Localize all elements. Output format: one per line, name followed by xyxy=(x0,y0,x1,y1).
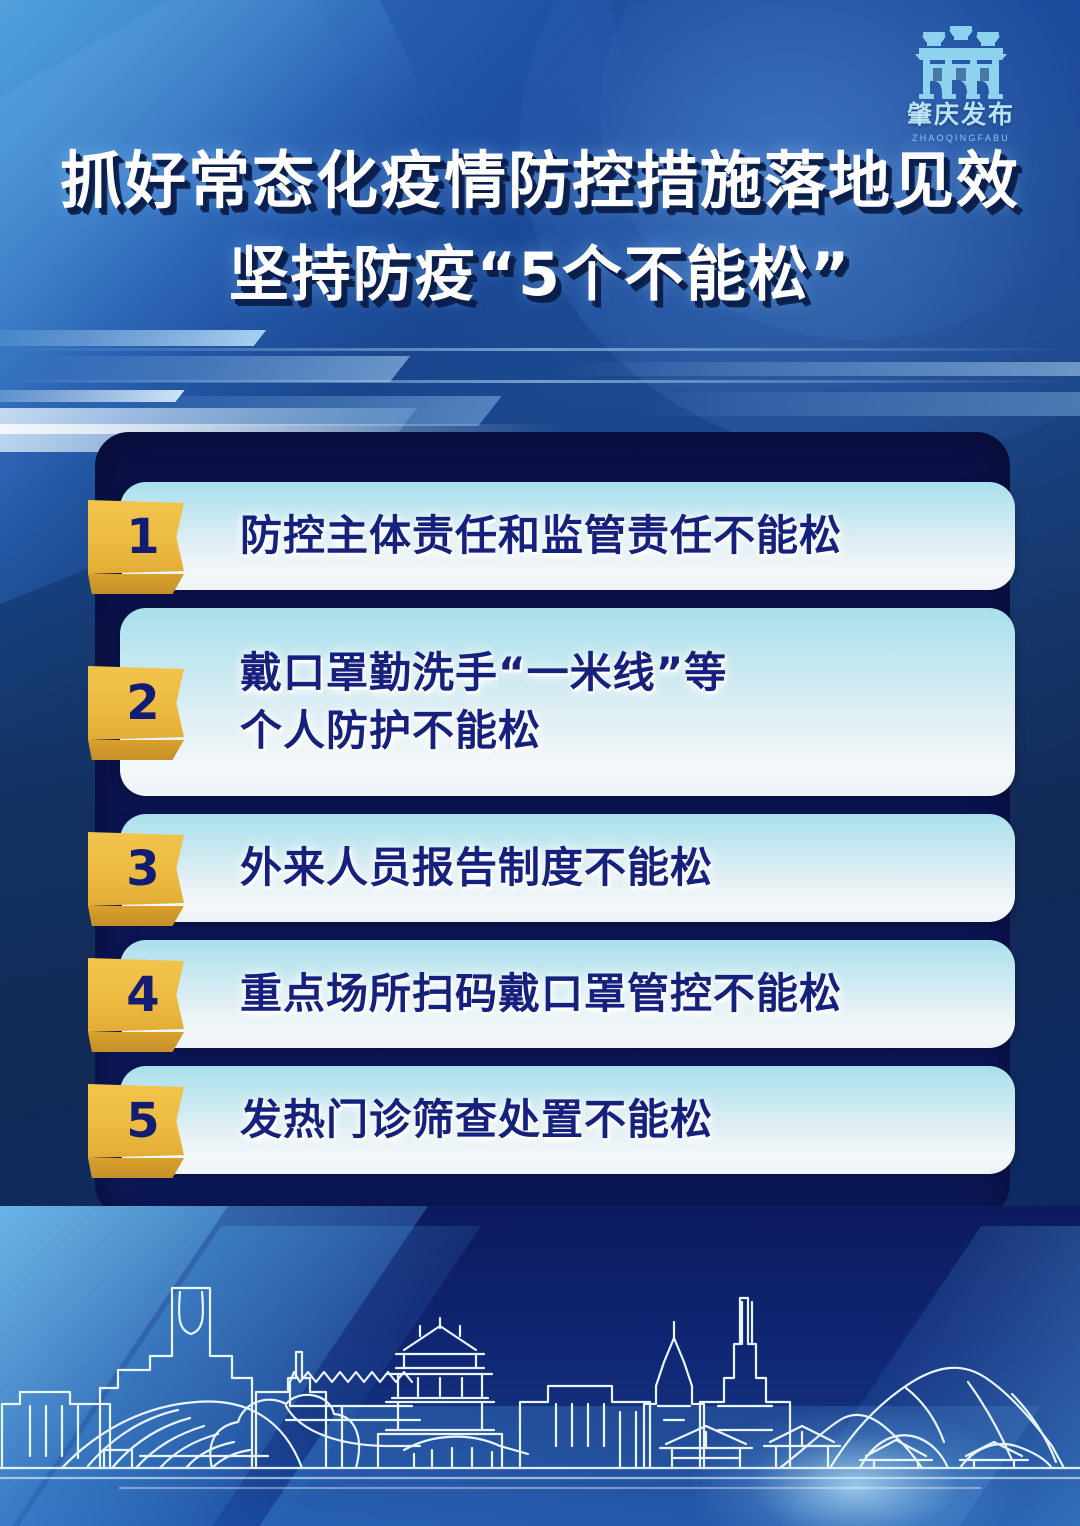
bg-horizontal-band xyxy=(0,348,1080,351)
bg-light-streak xyxy=(0,390,185,402)
item-text-line-1: 外来人员报告制度不能松 xyxy=(240,843,713,892)
item-text-line-2: 个人防护不能松 xyxy=(240,702,727,760)
item-text-line-1: 防控主体责任和监管责任不能松 xyxy=(240,511,842,560)
headline-block: 抓好常态化疫情防控措施落地见效 坚持防疫“5个不能松” xyxy=(0,140,1080,315)
item-badge-fold xyxy=(88,740,184,760)
item-text-line-1: 发热门诊筛查处置不能松 xyxy=(240,1095,713,1144)
item-text-line-1: 戴口罩勤洗手“一米线”等 xyxy=(240,644,727,702)
item-text: 外来人员报告制度不能松 xyxy=(240,839,737,897)
item-badge-fold xyxy=(88,1032,184,1052)
item-text-line-1: 重点场所扫码戴口罩管控不能松 xyxy=(240,969,842,1018)
city-skyline-footer xyxy=(0,1206,1080,1526)
item-number-badge: 1 xyxy=(88,500,184,574)
item-badge-fold xyxy=(88,1158,184,1178)
item-text: 重点场所扫码戴口罩管控不能松 xyxy=(240,965,866,1023)
headline-line-2: 坚持防疫“5个不能松” xyxy=(0,236,1080,315)
item-number: 3 xyxy=(126,845,159,893)
list-item[interactable]: 3 外来人员报告制度不能松 xyxy=(120,814,1015,922)
bg-light-streak xyxy=(10,356,410,382)
headline-line-1: 抓好常态化疫情防控措施落地见效 xyxy=(0,140,1080,222)
item-number-badge: 4 xyxy=(88,958,184,1032)
item-number: 2 xyxy=(126,679,159,727)
list-item[interactable]: 5 发热门诊筛查处置不能松 xyxy=(120,1066,1015,1174)
item-number: 5 xyxy=(126,1097,159,1145)
item-badge-fold xyxy=(88,906,184,926)
publisher-logo: 肇庆发布 ZHAOQINGFABU xyxy=(896,22,1026,143)
item-number-badge: 2 xyxy=(88,666,184,740)
item-number: 1 xyxy=(126,513,159,561)
bg-light-streak xyxy=(631,392,1080,416)
item-number-badge: 3 xyxy=(88,832,184,906)
bg-light-streak xyxy=(555,362,1080,376)
item-number: 4 xyxy=(126,971,159,1019)
item-text: 发热门诊筛查处置不能松 xyxy=(240,1091,737,1149)
bg-light-streak xyxy=(48,396,501,426)
logo-title: 肇庆发布 xyxy=(896,102,1026,130)
list-item[interactable]: 2 戴口罩勤洗手“一米线”等 个人防护不能松 xyxy=(120,608,1015,796)
infographic-poster: 肇庆发布 ZHAOQINGFABU 抓好常态化疫情防控措施落地见效 坚持防疫“5… xyxy=(0,0,1080,1526)
skyline-line-art-icon xyxy=(0,1206,1080,1526)
item-text: 戴口罩勤洗手“一米线”等 个人防护不能松 xyxy=(240,644,751,760)
bg-horizontal-band xyxy=(0,380,1080,383)
archway-gate-icon xyxy=(896,22,1026,100)
bg-light-streak xyxy=(0,330,266,346)
item-number-badge: 5 xyxy=(88,1084,184,1158)
list-item[interactable]: 4 重点场所扫码戴口罩管控不能松 xyxy=(120,940,1015,1048)
measures-list: 1 防控主体责任和监管责任不能松 2 戴口罩勤洗手“一米线”等 个人防护不能松 … xyxy=(120,482,1015,1192)
item-badge-fold xyxy=(88,574,184,594)
item-text: 防控主体责任和监管责任不能松 xyxy=(240,507,866,565)
list-item[interactable]: 1 防控主体责任和监管责任不能松 xyxy=(120,482,1015,590)
